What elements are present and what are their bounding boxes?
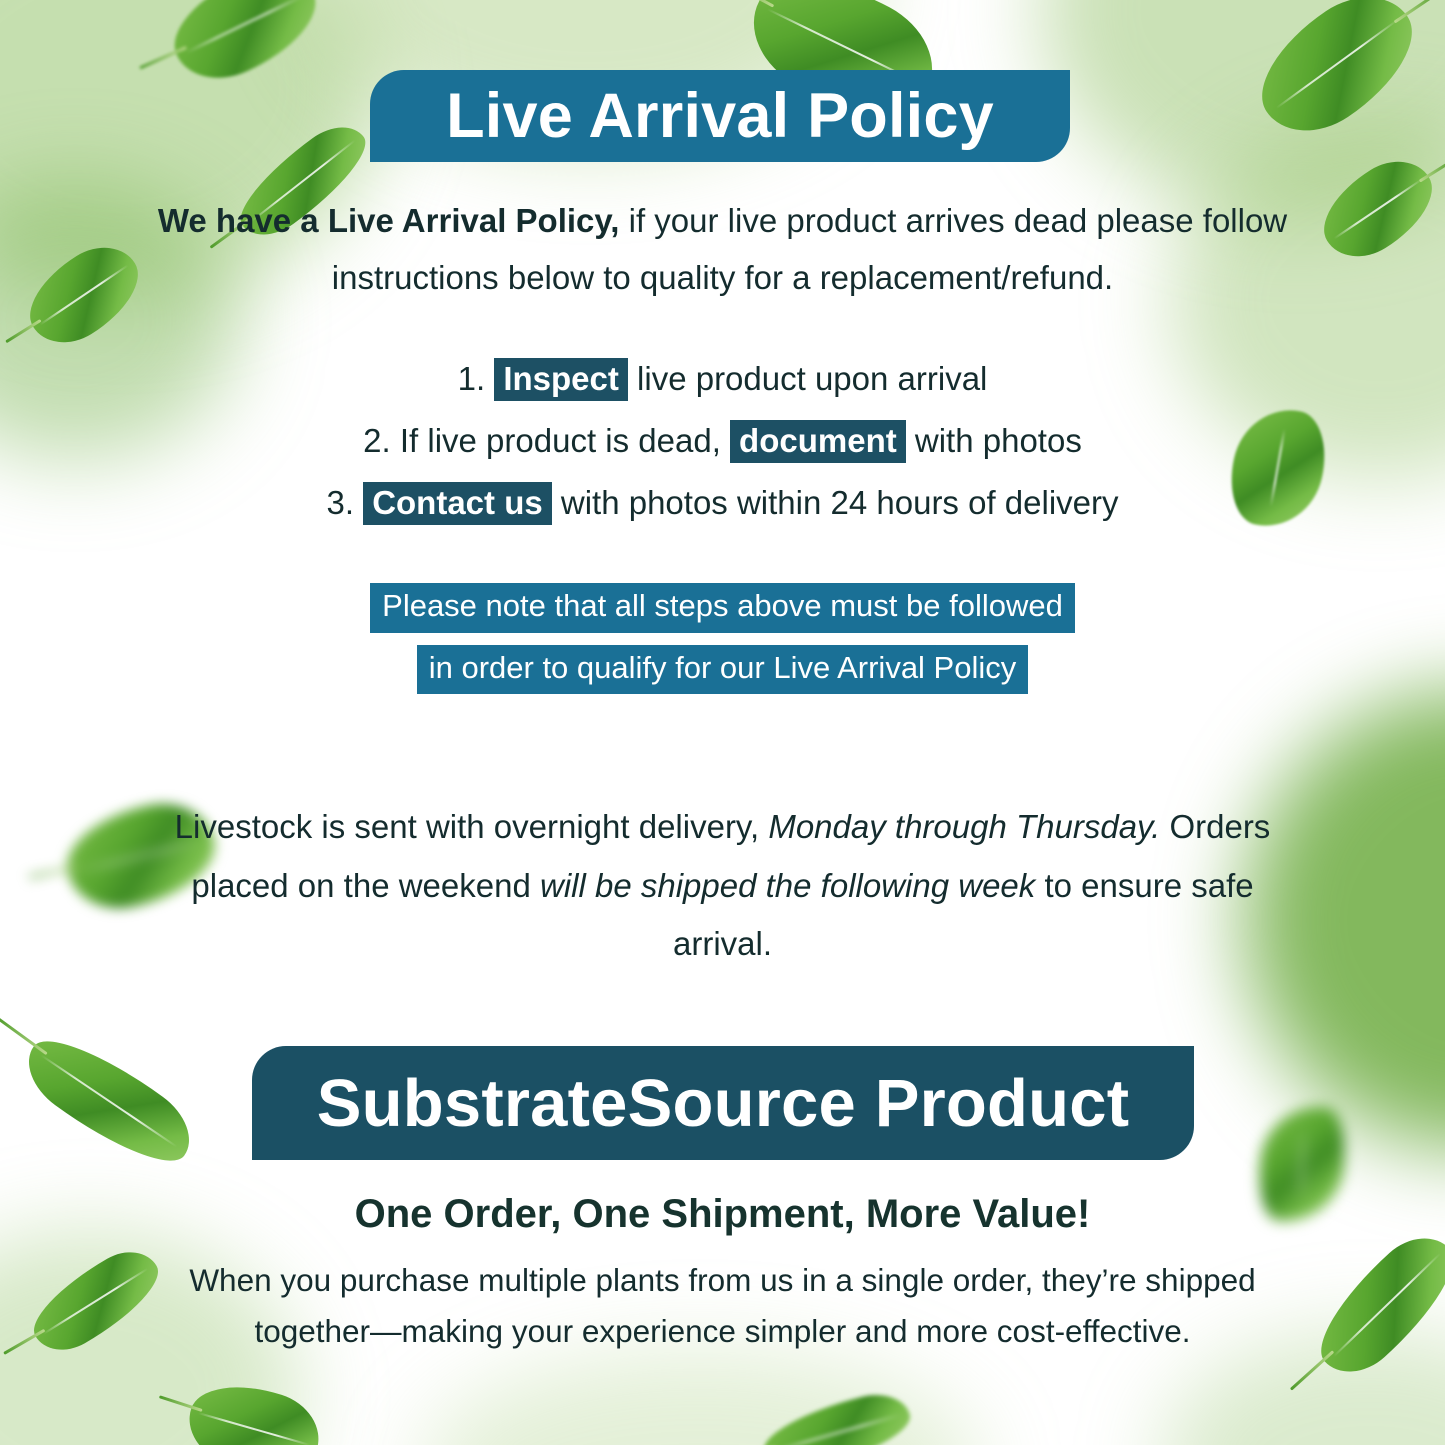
step-text-after: with photos within 24 hours of delivery <box>552 484 1119 521</box>
shipping-seg-2-italic: Monday through Thursday. <box>768 808 1160 845</box>
intro-paragraph: We have a Live Arrival Policy, if your l… <box>150 193 1295 307</box>
policy-document: Live Arrival Policy We have a Live Arriv… <box>0 0 1445 1445</box>
steps-list: 1. Inspect live product upon arrival 2. … <box>150 348 1295 534</box>
shipping-seg-4-italic: will be shipped the following week <box>540 867 1035 904</box>
value-subheading: One Order, One Shipment, More Value! <box>150 1192 1295 1237</box>
step-number: 3. <box>326 484 354 521</box>
step-number: 2. <box>363 422 391 459</box>
step-highlight-document: document <box>730 420 906 463</box>
list-item: 3. Contact us with photos within 24 hour… <box>150 472 1295 534</box>
note-line-2: in order to qualify for our Live Arrival… <box>417 645 1029 695</box>
live-arrival-policy-title: Live Arrival Policy <box>446 80 994 152</box>
list-item: 2. If live product is dead, document wit… <box>150 410 1295 472</box>
spacer <box>150 633 1295 645</box>
step-text-after: live product upon arrival <box>628 360 988 397</box>
step-highlight-inspect: Inspect <box>494 358 628 401</box>
list-item: 1. Inspect live product upon arrival <box>150 348 1295 410</box>
step-text-after: with photos <box>906 422 1082 459</box>
step-text-before <box>354 484 363 521</box>
step-highlight-contact-us: Contact us <box>363 482 552 525</box>
step-text-before: If live product is dead, <box>391 422 730 459</box>
note-line-1: Please note that all steps above must be… <box>370 583 1075 633</box>
shipping-paragraph: Livestock is sent with overnight deliver… <box>150 798 1295 974</box>
substratesource-product-title: SubstrateSource Product <box>317 1065 1130 1142</box>
step-number: 1. <box>458 360 486 397</box>
substratesource-product-banner: SubstrateSource Product <box>252 1046 1194 1160</box>
live-arrival-policy-banner: Live Arrival Policy <box>370 70 1070 162</box>
intro-bold-lead: We have a Live Arrival Policy, <box>158 202 620 239</box>
shipping-seg-1: Livestock is sent with overnight deliver… <box>175 808 769 845</box>
closing-paragraph: When you purchase multiple plants from u… <box>150 1255 1295 1357</box>
note-callout: Please note that all steps above must be… <box>150 583 1295 694</box>
